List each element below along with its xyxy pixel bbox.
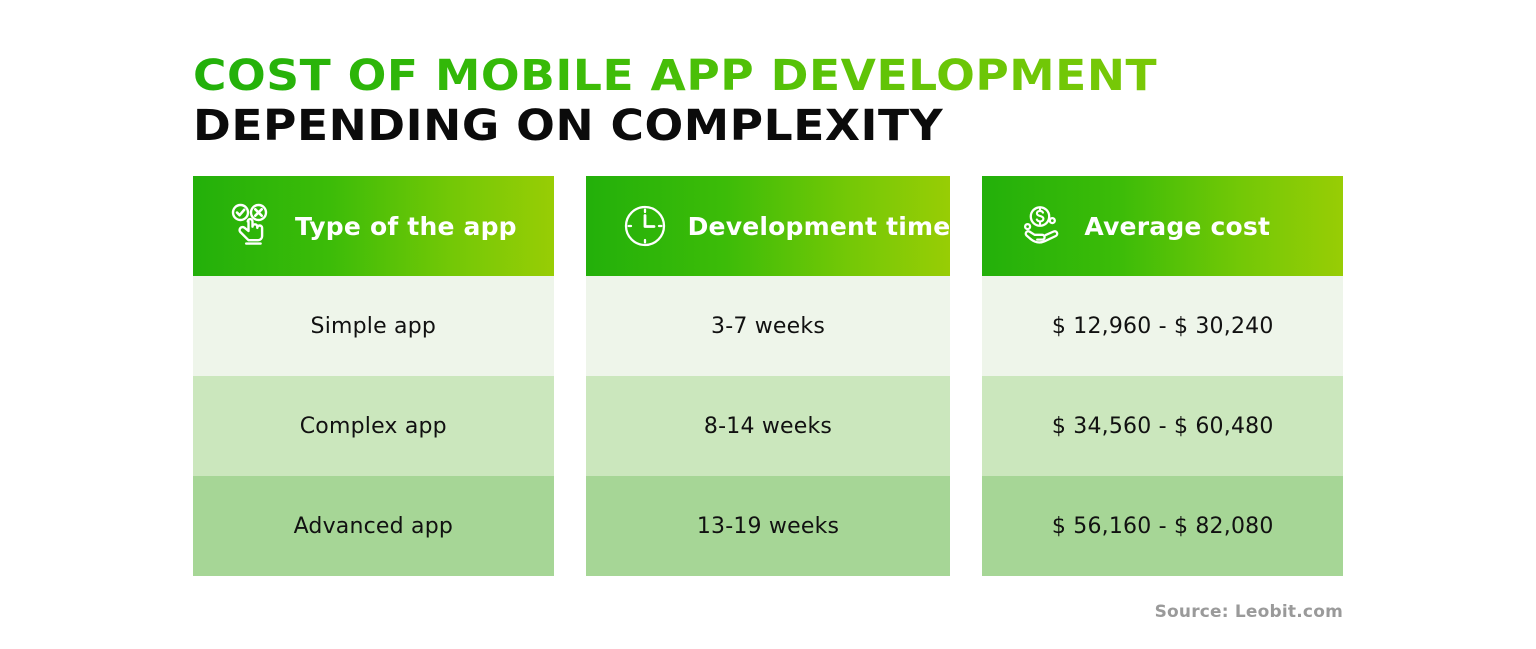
table-cell-time-2: 13-19 weeks	[586, 476, 951, 576]
page-title: Cost of mobile app development Depending…	[193, 52, 1343, 150]
title-line-primary: Cost of mobile app development	[193, 52, 1412, 100]
infographic-root: Cost of mobile app development Depending…	[0, 0, 1536, 649]
table-cell-cost-1: $ 34,560 - $ 60,480	[982, 376, 1343, 476]
table-cell-cost-2: $ 56,160 - $ 82,080	[982, 476, 1343, 576]
column-header-time-label: Development time	[688, 212, 951, 241]
table-column-type: Type of the app Simple app Complex app A…	[193, 176, 554, 576]
clock-icon	[620, 201, 670, 251]
comparison-table: Type of the app Simple app Complex app A…	[193, 176, 1343, 576]
source-attribution: Source: Leobit.com	[1155, 602, 1343, 622]
table-column-cost: Average cost $ 12,960 - $ 30,240 $ 34,56…	[982, 176, 1343, 576]
column-header-time: Development time	[586, 176, 951, 276]
table-column-time: Development time 3-7 weeks 8-14 weeks 13…	[586, 176, 951, 576]
hand-holding-dollar-icon	[1016, 201, 1066, 251]
title-line-secondary: Depending on complexity	[193, 102, 1412, 150]
table-cell-time-0: 3-7 weeks	[586, 276, 951, 376]
table-cell-type-0: Simple app	[193, 276, 554, 376]
column-header-cost: Average cost	[982, 176, 1343, 276]
column-header-cost-label: Average cost	[1084, 212, 1270, 241]
hand-pointer-check-cross-icon	[227, 201, 277, 251]
column-header-type: Type of the app	[193, 176, 554, 276]
table-cell-time-1: 8-14 weeks	[586, 376, 951, 476]
table-cell-cost-0: $ 12,960 - $ 30,240	[982, 276, 1343, 376]
column-header-type-label: Type of the app	[295, 212, 517, 241]
table-cell-type-1: Complex app	[193, 376, 554, 476]
table-cell-type-2: Advanced app	[193, 476, 554, 576]
